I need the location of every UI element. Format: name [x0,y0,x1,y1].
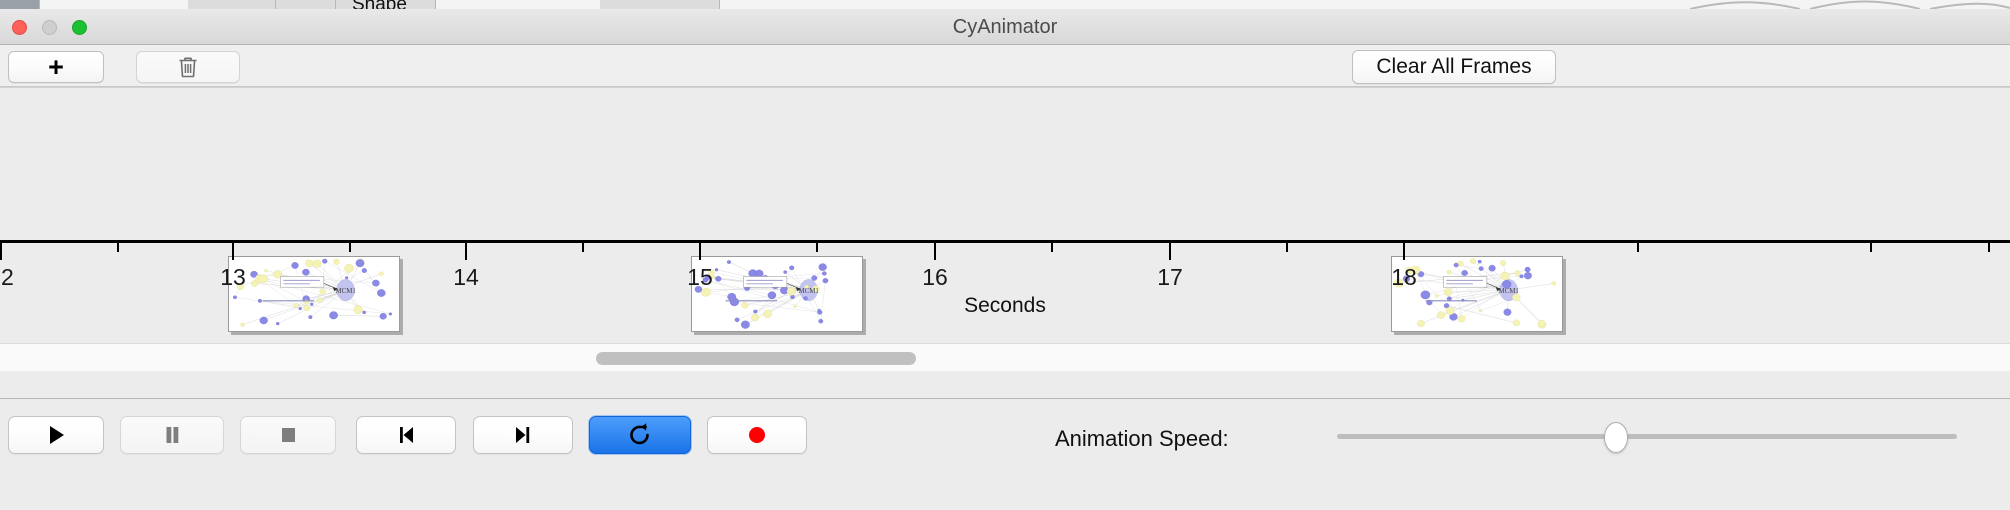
timeline-scrollbar[interactable] [0,343,2010,371]
animation-speed-label: Animation Speed: [1055,426,1229,452]
timeline-panel: MCM1 MCM1 MCM1 12131415161718 Seconds [0,87,2010,397]
animation-speed-slider-thumb[interactable] [1604,422,1628,453]
play-button[interactable] [8,416,104,454]
record-icon [744,422,770,448]
clear-all-frames-button[interactable]: Clear All Frames [1352,50,1556,84]
axis-tick [232,243,234,260]
axis-tick-label: 15 [687,264,713,291]
playback-bar: Animation Speed: [0,398,2010,510]
play-icon [43,422,69,448]
axis-tick [465,243,467,260]
timeline-axis [0,240,2010,243]
trash-icon [177,55,199,79]
loop-icon [626,421,654,449]
axis-tick [699,243,701,260]
axis-tick [1051,243,1053,252]
skip-start-button[interactable] [356,416,456,454]
axis-tick-label: 12 [0,264,14,291]
title-bar: CyAnimator [0,9,2010,45]
skip-end-button[interactable] [473,416,573,454]
animation-speed-slider[interactable] [1337,434,1957,439]
axis-tick [1403,243,1405,260]
axis-tick [349,243,351,252]
axis-tick [1637,243,1639,252]
delete-frame-button[interactable] [136,51,240,83]
cyanimator-window: Shape CyAnimator + Clear All Frames [0,0,2010,510]
scrollbar-thumb[interactable] [596,352,916,365]
axis-tick-label: 14 [453,264,479,291]
plus-icon: + [48,54,64,81]
pause-icon [159,422,185,448]
axis-tick [117,243,119,252]
loop-button[interactable] [589,416,691,454]
axis-tick-label: 16 [922,264,948,291]
record-button[interactable] [707,416,807,454]
window-title: CyAnimator [0,9,2010,45]
axis-tick [816,243,818,252]
axis-tick-label: 18 [1391,264,1417,291]
skip-forward-icon [510,422,536,448]
axis-tick [1286,243,1288,252]
stop-icon [275,422,301,448]
axis-tick [934,243,936,260]
axis-tick [582,243,584,252]
axis-tick [0,243,2,260]
skip-back-icon [393,422,419,448]
clear-all-frames-label: Clear All Frames [1376,55,1531,79]
axis-tick-label: 13 [220,264,246,291]
axis-tick [1988,243,1990,252]
axis-title: Seconds [0,294,2010,318]
pause-button[interactable] [120,416,224,454]
axis-tick [1870,243,1872,252]
axis-tick-label: 17 [1157,264,1183,291]
axis-tick [1169,243,1171,260]
add-frame-button[interactable]: + [8,51,104,83]
stop-button[interactable] [240,416,336,454]
toolbar: + Clear All Frames [0,45,2010,87]
